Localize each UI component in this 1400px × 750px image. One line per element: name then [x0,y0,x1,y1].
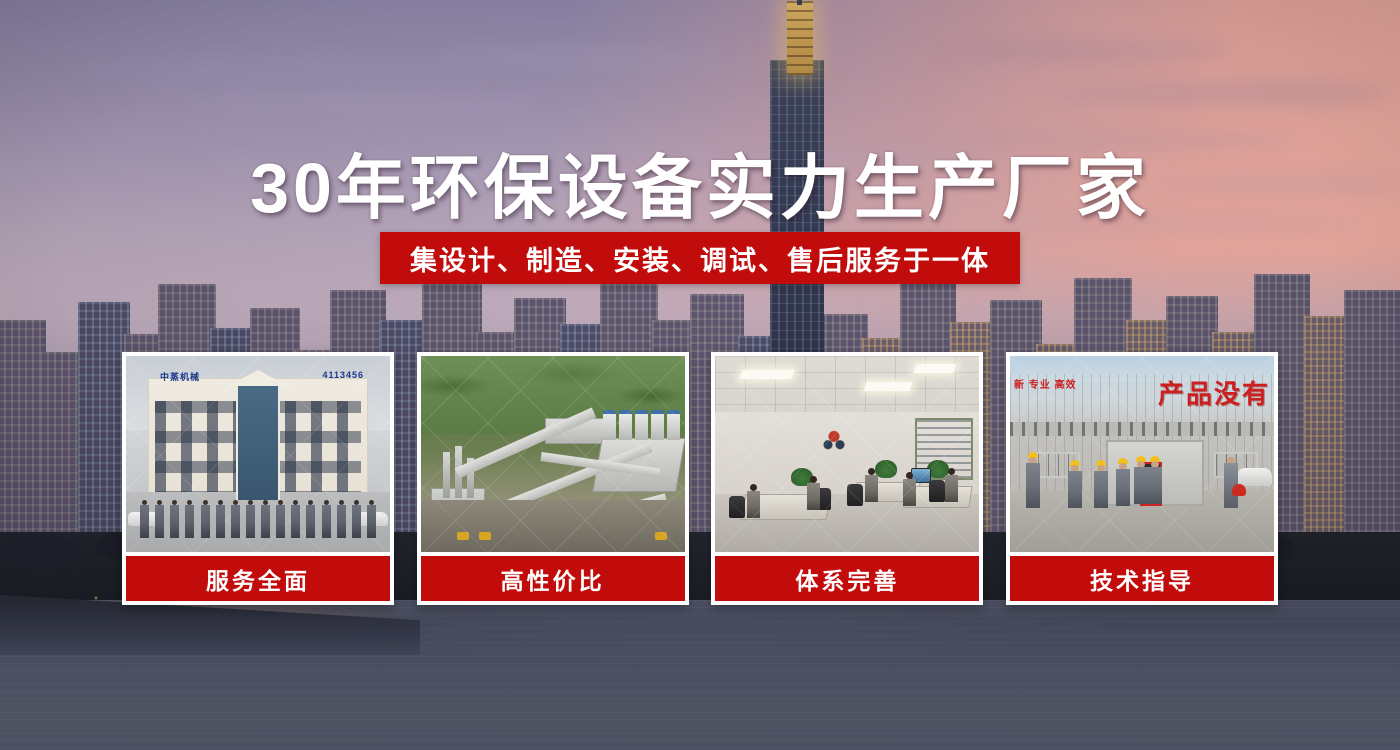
card-photo-factory-workers: 新 专业 高效 产品没有 [1010,356,1274,552]
feature-card-row: 中蒸机械 4113456 [122,352,1278,605]
banner-content: 30年环保设备实力生产厂家 集设计、制造、安装、调试、售后服务于一体 中蒸机械 … [0,0,1400,750]
card-label-bar: 体系完善 [715,556,979,601]
staff-lineup [140,496,376,538]
card-photo-office-interior [715,356,979,552]
subtitle-text: 集设计、制造、安装、调试、售后服务于一体 [410,239,990,278]
staff-member [367,500,376,538]
feature-card[interactable]: 体系完善 [711,352,983,605]
ceiling-light [740,370,795,379]
staff-member [337,500,346,538]
staff-member [246,500,255,538]
plant-yard [421,500,685,552]
feature-card[interactable]: 新 专业 高效 产品没有 技术指导 [1006,352,1278,605]
storage-silo [667,410,680,440]
storage-silo [603,410,616,440]
card-label-bar: 高性价比 [421,556,685,601]
supervisor [1224,452,1238,508]
red-hard-hat [1232,484,1246,496]
staff-member [306,500,315,538]
staff-member [140,500,149,538]
card-label-bar: 技术指导 [1010,556,1274,601]
card-photo-industrial-plant [421,356,685,552]
staff-member [185,500,194,538]
worker-with-hard-hat [1134,456,1148,504]
page-title: 30年环保设备实力生产厂家 [0,132,1400,233]
factory-wall-slogan: 产品没有 [1158,374,1270,411]
staff-member [201,500,210,538]
card-photo-office-building: 中蒸机械 4113456 [126,356,390,552]
office-employee [747,484,760,518]
staff-member [261,500,270,538]
feature-card[interactable]: 高性价比 [417,352,689,605]
card-label-bar: 服务全面 [126,556,390,601]
staff-member [170,500,179,538]
worker-with-hard-hat [1148,456,1162,504]
card-label-text: 高性价比 [501,562,605,596]
worker-with-hard-hat [1116,458,1130,506]
card-label-text: 服务全面 [206,562,310,596]
card-label-text: 技术指导 [1090,562,1194,596]
staff-member [231,500,240,538]
office-employee [903,472,916,506]
potted-plant [875,460,897,478]
office-employee [807,476,820,510]
wall-logo [819,426,849,452]
staff-member [155,500,164,538]
factory-wall-slogan-small: 新 专业 高效 [1014,380,1077,392]
staff-member [352,500,361,538]
office-chair [729,496,745,518]
office-chair [847,484,863,506]
storage-silo [635,410,648,440]
staff-member [276,500,285,538]
excavator [655,532,667,540]
parked-car [1238,468,1272,486]
building-pediment [228,370,288,386]
excavator [479,532,491,540]
worker-with-hard-hat [1026,452,1040,508]
office-employee [865,468,878,502]
factory-louver-vents [1010,422,1274,436]
feature-card[interactable]: 中蒸机械 4113456 [122,352,394,605]
staff-member [291,500,300,538]
building-sign-text: 中蒸机械 [160,370,200,383]
card-label-text: 体系完善 [795,562,899,596]
storage-silo [651,410,664,440]
ceiling-light [914,364,957,373]
ceiling-light [864,382,912,391]
staff-member [216,500,225,538]
excavator [457,532,469,540]
worker-with-hard-hat [1094,460,1108,508]
subtitle-banner: 集设计、制造、安装、调试、售后服务于一体 [380,232,1020,284]
staff-member [322,500,331,538]
building-entrance-glass [236,382,280,500]
building-phone-number: 4113456 [322,370,364,380]
office-chair [929,480,945,502]
storage-silo [619,410,632,440]
exhaust-stack [443,452,450,498]
office-employee [945,468,958,502]
worker-with-hard-hat [1068,460,1082,508]
